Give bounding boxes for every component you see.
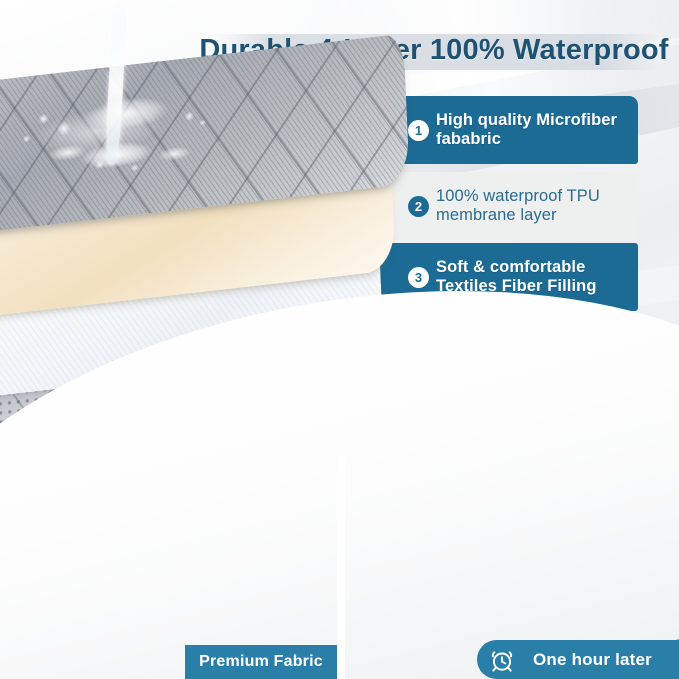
premium-fabric-label: Premium Fabric	[199, 653, 323, 671]
feature-number-badge-1: 1	[408, 120, 429, 141]
feature-number-badge-3: 3	[408, 267, 429, 288]
feature-number-badge-2: 2	[408, 196, 429, 217]
feature-label-1: High quality Microfiber fababric	[436, 111, 617, 149]
panel-divider	[337, 455, 345, 679]
premium-fabric-caption: Premium Fabric	[185, 645, 337, 679]
one-hour-later-caption: One hour later	[477, 640, 679, 679]
alarm-clock-icon	[489, 647, 515, 673]
feature-label-2: 100% waterproof TPU membrane layer	[436, 187, 600, 225]
infographic-canvas: 1 High quality Microfiber fababric 2 100…	[0, 0, 679, 679]
one-hour-later-label: One hour later	[533, 650, 652, 670]
